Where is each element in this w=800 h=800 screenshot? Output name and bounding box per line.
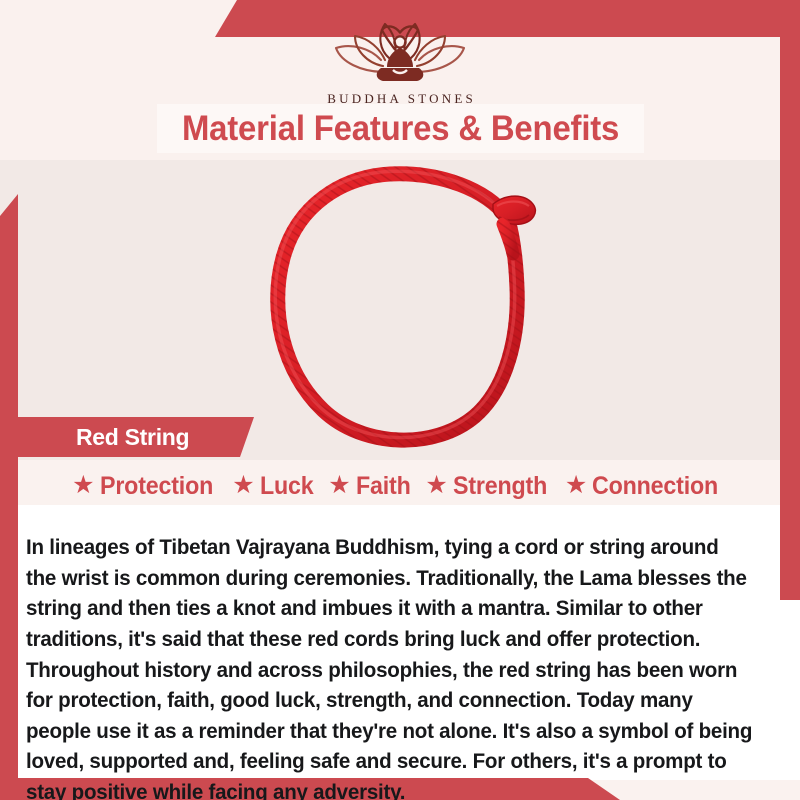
benefit-label: Strength xyxy=(453,472,547,501)
benefit-item-protection: ★ Protection xyxy=(72,472,221,501)
brand-logo: BUDDHA STONES xyxy=(0,18,800,107)
star-icon: ★ xyxy=(328,473,350,498)
benefit-label: Faith xyxy=(356,472,411,501)
material-name-text: Red String xyxy=(76,424,189,451)
benefit-item-connection: ★ Connection xyxy=(565,472,728,501)
benefit-item-strength: ★ Strength xyxy=(425,472,554,501)
frame-accent-left xyxy=(0,190,18,790)
star-icon: ★ xyxy=(425,473,447,498)
benefit-label: Protection xyxy=(100,472,213,501)
product-image xyxy=(245,160,575,460)
benefits-list: ★ Protection ★ Luck ★ Faith ★ Strength ★… xyxy=(18,466,782,506)
red-string-bracelet-illustration xyxy=(245,160,575,460)
product-infographic: BUDDHA STONES Material Features & Benefi… xyxy=(0,0,800,800)
star-icon: ★ xyxy=(232,473,254,498)
page-title: Material Features & Benefits xyxy=(157,104,644,153)
lotus-meditation-figure-icon xyxy=(325,18,475,88)
material-name-ribbon: Red String xyxy=(17,417,254,457)
benefit-item-faith: ★ Faith xyxy=(328,472,414,501)
benefit-item-luck: ★ Luck xyxy=(232,472,317,501)
benefit-label: Connection xyxy=(592,472,718,501)
star-icon: ★ xyxy=(72,473,94,498)
benefit-label: Luck xyxy=(260,472,314,501)
description-text: In lineages of Tibetan Vajrayana Buddhis… xyxy=(26,532,754,800)
star-icon: ★ xyxy=(565,473,587,498)
page-title-text: Material Features & Benefits xyxy=(182,109,619,149)
